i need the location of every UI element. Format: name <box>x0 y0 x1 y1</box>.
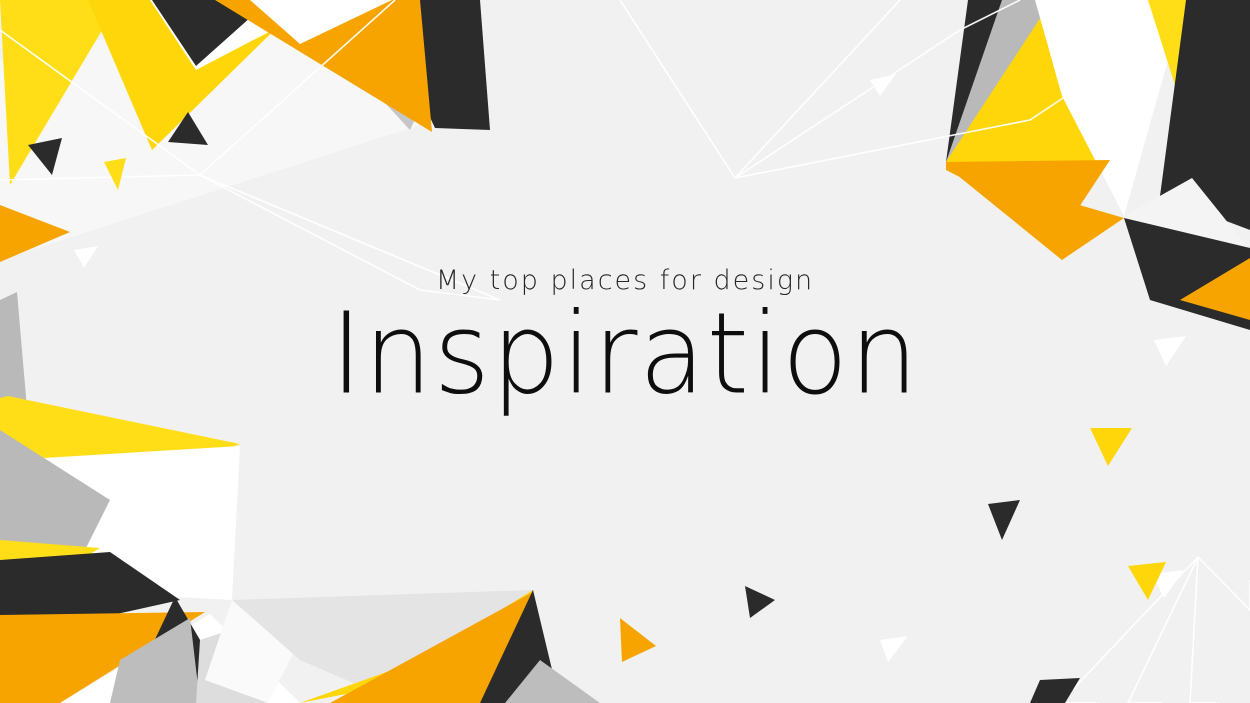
background-artwork <box>0 0 1250 703</box>
slide-canvas: My top places for design Inspiration <box>0 0 1250 703</box>
